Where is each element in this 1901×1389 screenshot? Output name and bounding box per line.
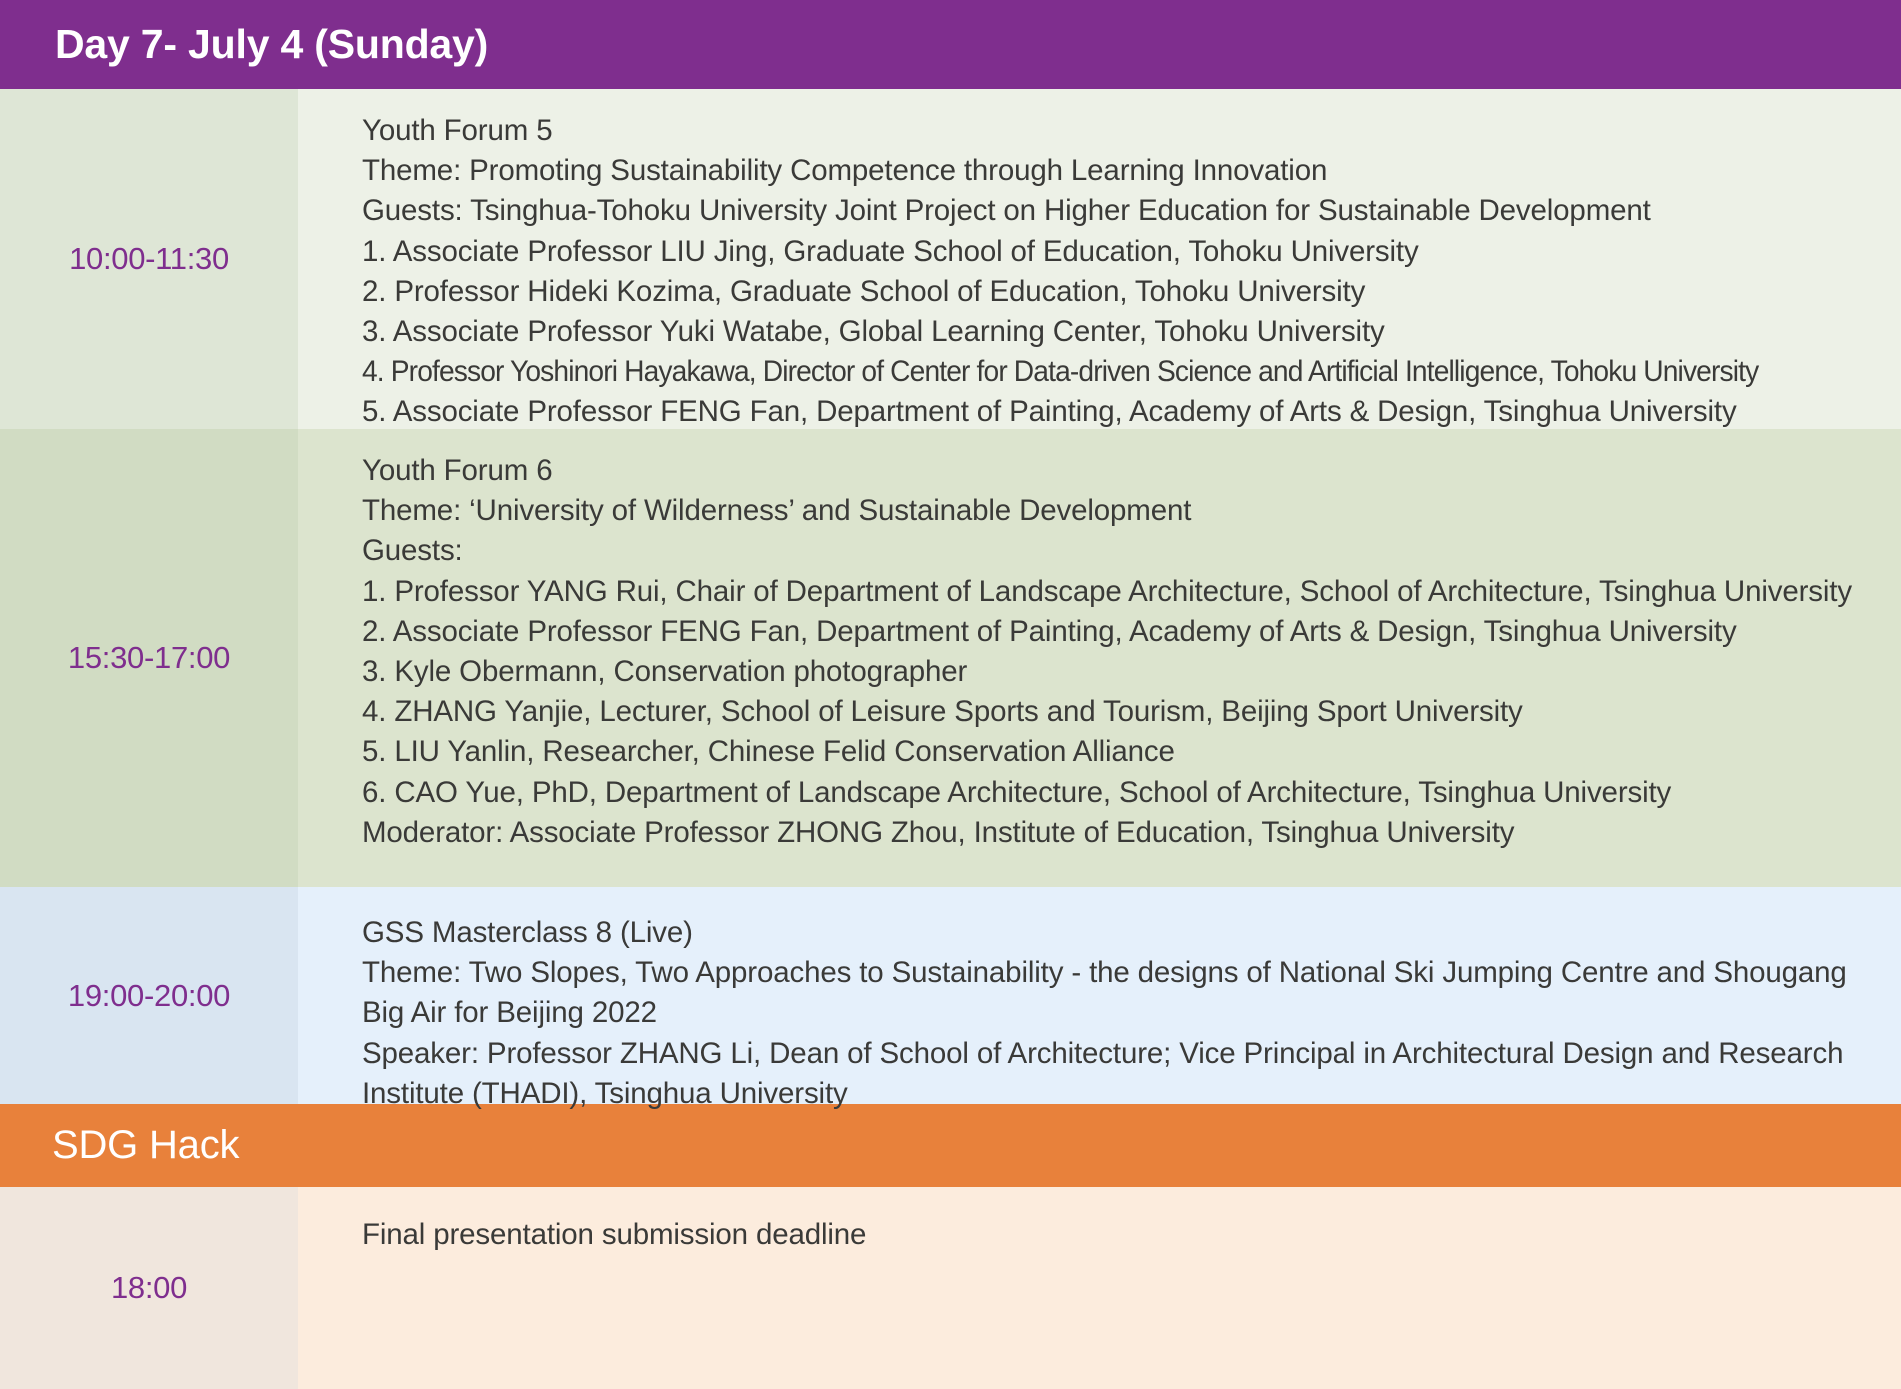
session-guest-4: 4. ZHANG Yanjie, Lecturer, School of Lei… bbox=[362, 692, 1877, 732]
session-guest-1: 1. Professor YANG Rui, Chair of Departme… bbox=[362, 572, 1877, 612]
sdg-hack-title: SDG Hack bbox=[52, 1123, 239, 1168]
session-guests-header: Guests: bbox=[362, 531, 1877, 571]
session-title: GSS Masterclass 8 (Live) bbox=[362, 913, 1877, 953]
session-theme: Theme: ‘University of Wilderness’ and Su… bbox=[362, 491, 1877, 531]
session-moderator: Moderator: Associate Professor ZHONG Zho… bbox=[362, 813, 1877, 853]
session-title: Youth Forum 6 bbox=[362, 451, 1877, 491]
time-label: 18:00 bbox=[111, 1270, 187, 1306]
deadline-text: Final presentation submission deadline bbox=[362, 1215, 1877, 1255]
schedule-row: 10:00-11:30 Youth Forum 5 Theme: Promoti… bbox=[0, 89, 1901, 429]
time-label: 19:00-20:00 bbox=[68, 978, 230, 1014]
session-speaker: Speaker: Professor ZHANG Li, Dean of Sch… bbox=[362, 1034, 1877, 1114]
time-label: 10:00-11:30 bbox=[69, 241, 229, 277]
session-theme: Theme: Two Slopes, Two Approaches to Sus… bbox=[362, 953, 1877, 1033]
day-schedule-table: Day 7- July 4 (Sunday) 10:00-11:30 Youth… bbox=[0, 0, 1901, 1389]
schedule-row: 19:00-20:00 GSS Masterclass 8 (Live) The… bbox=[0, 887, 1901, 1104]
row-time-slot: 10:00-11:30 bbox=[0, 89, 298, 429]
session-guest-3: 3. Associate Professor Yuki Watabe, Glob… bbox=[362, 312, 1877, 352]
row-content: Youth Forum 5 Theme: Promoting Sustainab… bbox=[298, 89, 1901, 429]
sdg-hack-banner: SDG Hack bbox=[0, 1104, 1901, 1187]
day-header-title: Day 7- July 4 (Sunday) bbox=[55, 21, 488, 68]
schedule-row: 18:00 Final presentation submission dead… bbox=[0, 1187, 1901, 1389]
session-guest-1: 1. Associate Professor LIU Jing, Graduat… bbox=[362, 232, 1877, 272]
session-theme: Theme: Promoting Sustainability Competen… bbox=[362, 151, 1877, 191]
session-guest-2: 2. Professor Hideki Kozima, Graduate Sch… bbox=[362, 272, 1877, 312]
session-guest-5: 5. Associate Professor FENG Fan, Departm… bbox=[362, 392, 1877, 432]
row-content: Final presentation submission deadline bbox=[298, 1187, 1901, 1389]
row-content: GSS Masterclass 8 (Live) Theme: Two Slop… bbox=[298, 887, 1901, 1104]
day-header-banner: Day 7- July 4 (Sunday) bbox=[0, 0, 1901, 89]
row-time-slot: 18:00 bbox=[0, 1187, 298, 1389]
session-guest-6: 6. CAO Yue, PhD, Department of Landscape… bbox=[362, 773, 1877, 813]
session-guest-2: 2. Associate Professor FENG Fan, Departm… bbox=[362, 612, 1877, 652]
session-guest-3: 3. Kyle Obermann, Conservation photograp… bbox=[362, 652, 1877, 692]
schedule-row: 15:30-17:00 Youth Forum 6 Theme: ‘Univer… bbox=[0, 429, 1901, 887]
row-content: Youth Forum 6 Theme: ‘University of Wild… bbox=[298, 429, 1901, 887]
session-guest-4: 4. Professor Yoshinori Hayakawa, Directo… bbox=[362, 352, 1809, 392]
row-time-slot: 19:00-20:00 bbox=[0, 887, 298, 1104]
session-title: Youth Forum 5 bbox=[362, 111, 1877, 151]
time-label: 15:30-17:00 bbox=[68, 640, 230, 676]
session-guests-header: Guests: Tsinghua-Tohoku University Joint… bbox=[362, 191, 1877, 231]
session-guest-5: 5. LIU Yanlin, Researcher, Chinese Felid… bbox=[362, 732, 1877, 772]
row-time-slot: 15:30-17:00 bbox=[0, 429, 298, 887]
